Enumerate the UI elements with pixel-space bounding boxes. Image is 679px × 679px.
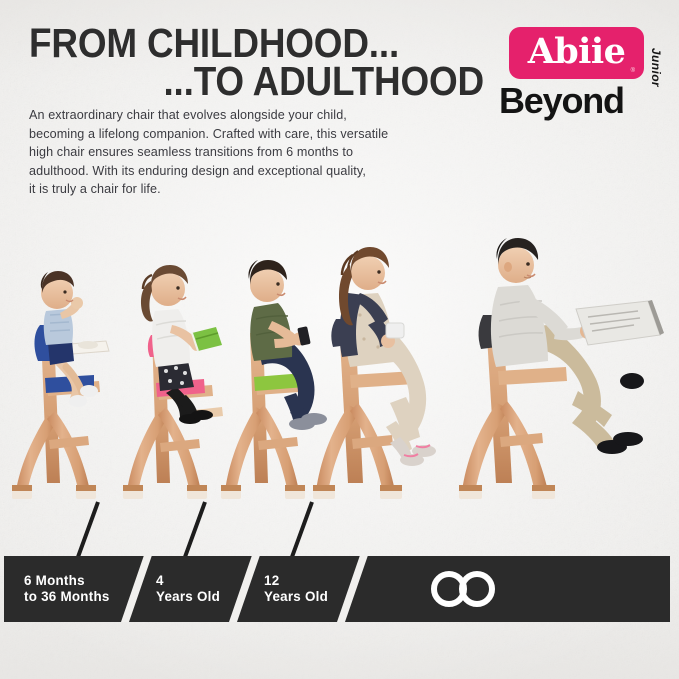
body-copy: An extraordinary chair that evolves alon… [29,106,499,199]
timeline-segment-2: 12 Years Old [264,556,328,622]
figure-girl-reading [123,265,223,499]
abiie-badge: Abiie ® [509,27,644,79]
body-line: adulthood. With its enduring design and … [29,162,499,181]
figure-stage [0,215,679,515]
figure-baby-in-highchair [12,271,109,499]
headline-block: FROM CHILDHOOD... ...TO ADULTHOOD [29,24,484,100]
figure-woman-with-cup [313,247,436,499]
brand-logo: Abiie ® Beyond Junior [491,27,661,132]
body-line: it is truly a chair for life. [29,180,499,199]
timeline-label-line1: 6 Months [24,573,110,589]
timeline-segment-infinity [428,556,500,622]
timeline-label-line1: 12 [264,573,328,589]
headline-line-1: FROM CHILDHOOD... [29,24,439,62]
body-line: becoming a lifelong companion. Crafted w… [29,125,499,144]
infinity-icon [428,569,500,609]
timeline-divider [223,556,265,622]
timeline-segment-0: 6 Months to 36 Months [24,556,110,622]
registered-trademark-icon: ® [631,68,635,74]
junior-wordmark: Junior [649,48,663,87]
figure-man-reading-newspaper [459,238,664,499]
timeline-divider [115,556,157,622]
header: FROM CHILDHOOD... ...TO ADULTHOOD An ext… [0,0,679,215]
abiie-wordmark: Abiie [509,27,644,79]
beyond-wordmark: Beyond [499,83,624,119]
timeline-bar: 6 Months to 36 Months 4 Years Old 12 Yea… [4,556,670,622]
body-line: high chair ensures seamless transitions … [29,143,499,162]
timeline-segment-1: 4 Years Old [156,556,220,622]
timeline-label-line2: Years Old [264,589,328,605]
body-line: An extraordinary chair that evolves alon… [29,106,499,125]
timeline-label-line2: Years Old [156,589,220,605]
timeline-divider [331,556,373,622]
growth-stage-illustration [0,215,679,515]
headline-line-2: ...TO ADULTHOOD [75,62,485,100]
timeline-label-line2: to 36 Months [24,589,110,605]
poster-canvas: FROM CHILDHOOD... ...TO ADULTHOOD An ext… [0,0,679,679]
figure-boy-with-phone [221,260,327,499]
timeline-label-line1: 4 [156,573,220,589]
